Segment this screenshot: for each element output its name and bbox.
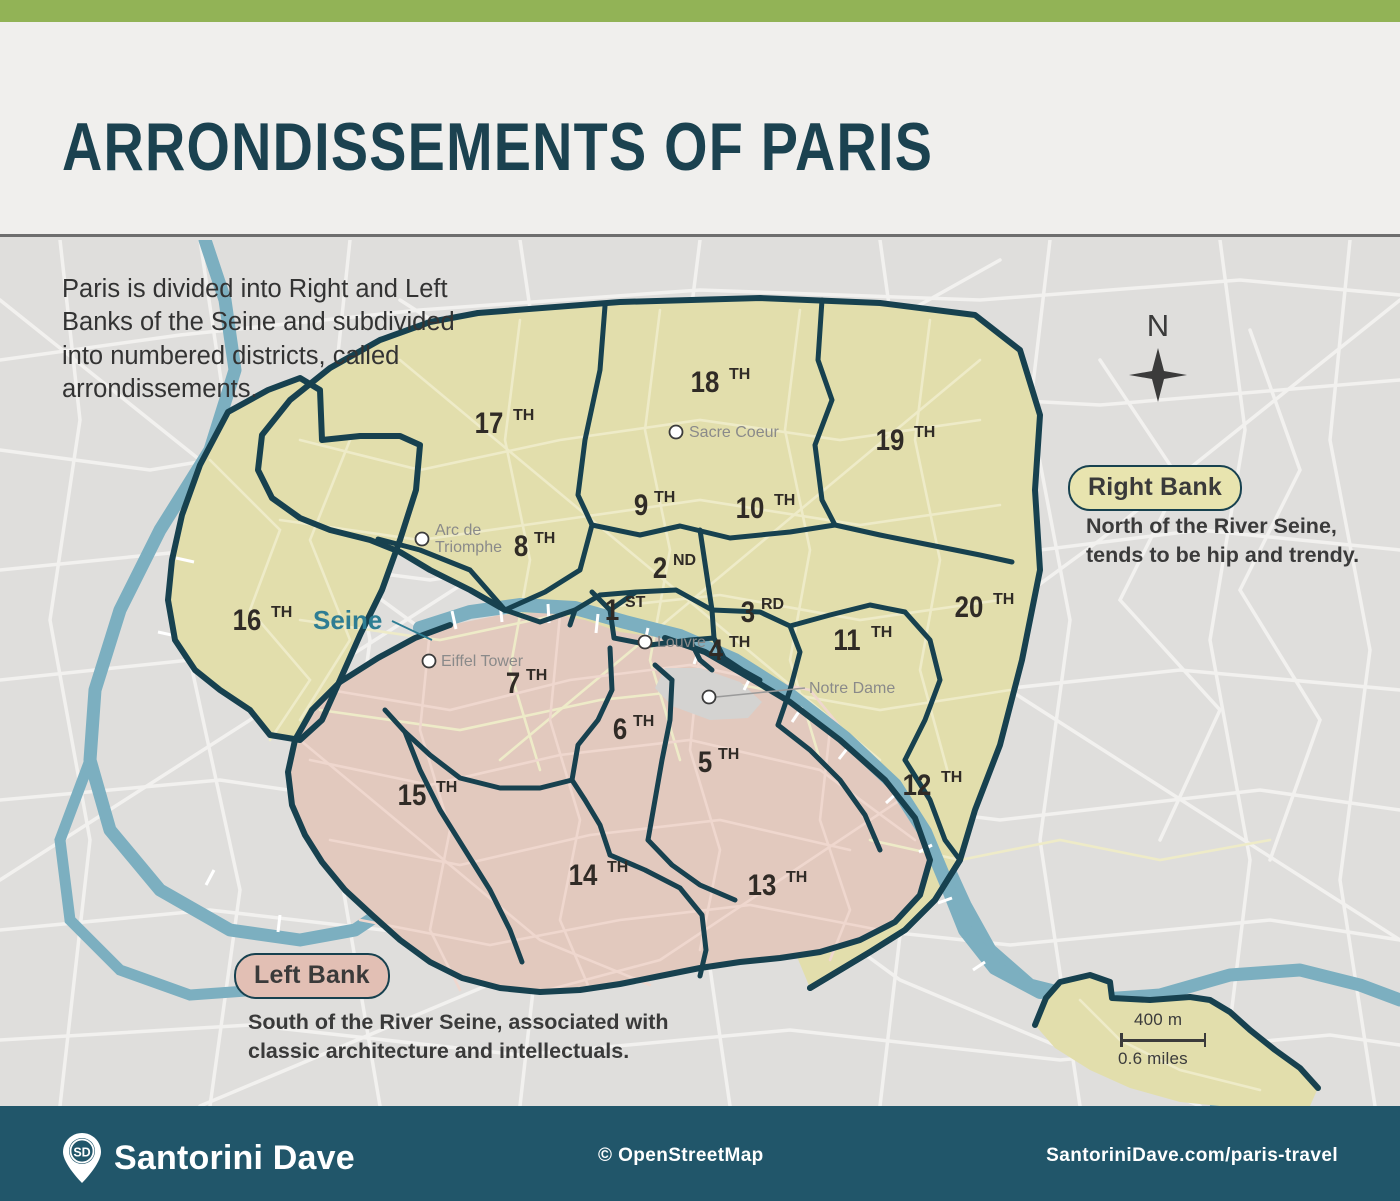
scale-bar-graphic <box>1112 1033 1262 1047</box>
district-number: 5 <box>698 745 712 778</box>
district-number: 14 <box>569 858 598 891</box>
district-ordinal: TH <box>729 634 750 651</box>
district-number: 6 <box>613 712 627 745</box>
district-ordinal: TH <box>633 713 654 730</box>
district-number: 11 <box>833 623 860 656</box>
district-ordinal: TH <box>534 530 555 547</box>
district-ordinal: TH <box>513 407 534 424</box>
district-number: 15 <box>398 778 427 811</box>
district-number: 20 <box>955 590 984 623</box>
district-ordinal: TH <box>914 424 935 441</box>
attribution-text: © OpenStreetMap <box>598 1145 764 1167</box>
header: ARRONDISSEMENTS OF PARIS <box>0 22 1400 237</box>
page-title: ARRONDISSEMENTS OF PARIS <box>62 108 933 186</box>
district-number: 9 <box>634 488 648 521</box>
district-number: 12 <box>903 768 932 801</box>
district-ordinal: ST <box>625 594 646 611</box>
district-ordinal: TH <box>718 746 739 763</box>
compass-north-label: N <box>1118 308 1198 344</box>
seine-label: Seine <box>313 605 382 635</box>
district-number: 16 <box>233 603 262 636</box>
district-number: 4 <box>709 633 724 666</box>
map-canvas: Sacre CoeurArc deTriompheLouvreEiffel To… <box>0 240 1400 1106</box>
compass-star-icon <box>1118 344 1198 406</box>
infographic-page: ARRONDISSEMENTS OF PARIS <box>0 0 1400 1201</box>
district-ordinal: ND <box>673 552 696 569</box>
district-ordinal: RD <box>761 596 784 613</box>
landmark-dot-icon <box>703 691 716 704</box>
map-pin-logo-icon: SD <box>62 1132 102 1184</box>
landmark-label: Sacre Coeur <box>689 424 779 441</box>
district-ordinal: TH <box>526 667 547 684</box>
district-ordinal: TH <box>941 769 962 786</box>
legend-badge-right-bank: Right Bank <box>1068 465 1242 511</box>
district-ordinal: TH <box>786 869 807 886</box>
landmark-dot-icon <box>416 533 429 546</box>
district-ordinal: TH <box>271 604 292 621</box>
district-ordinal: TH <box>607 859 628 876</box>
district-number: 8 <box>514 529 528 562</box>
district-number: 17 <box>475 406 504 439</box>
scale-imperial-label: 0.6 miles <box>1112 1049 1262 1069</box>
district-number: 3 <box>741 595 755 628</box>
district-number: 19 <box>876 423 905 456</box>
district-number: 7 <box>506 666 520 699</box>
district-ordinal: TH <box>871 624 892 641</box>
brand-lockup[interactable]: SD Santorini Dave <box>62 1132 355 1184</box>
intro-text: Paris is divided into Right and Left Ban… <box>62 273 482 407</box>
district-ordinal: TH <box>436 779 457 796</box>
landmark-dot-icon <box>639 636 652 649</box>
district-ordinal: TH <box>993 591 1014 608</box>
site-url[interactable]: SantoriniDave.com/paris-travel <box>1046 1145 1338 1167</box>
legend-desc-right-bank: North of the River Seine, tends to be hi… <box>1086 512 1386 570</box>
landmark-dot-icon <box>423 655 436 668</box>
district-number: 1 <box>605 593 619 626</box>
top-accent-bar <box>0 0 1400 22</box>
logo-initials: SD <box>73 1146 90 1160</box>
landmark-label: Notre Dame <box>809 680 895 697</box>
district-ordinal: TH <box>654 489 675 506</box>
district-number: 2 <box>653 551 667 584</box>
legend-badge-left-bank: Left Bank <box>234 953 390 999</box>
district-ordinal: TH <box>729 366 750 383</box>
district-number: 18 <box>691 365 720 398</box>
district-number: 10 <box>736 491 765 524</box>
compass-rose: N <box>1118 308 1198 408</box>
footer: SD Santorini Dave © OpenStreetMap Santor… <box>0 1106 1400 1201</box>
scale-metric-label: 400 m <box>1112 1010 1262 1030</box>
scale-bar: 400 m 0.6 miles <box>1112 1010 1262 1069</box>
brand-name: Santorini Dave <box>114 1139 355 1178</box>
district-ordinal: TH <box>774 492 795 509</box>
district-number: 13 <box>748 868 777 901</box>
landmark-dot-icon <box>670 426 683 439</box>
legend-desc-left-bank: South of the River Seine, associated wit… <box>248 1008 718 1066</box>
landmark-label: Louvre <box>657 634 706 651</box>
